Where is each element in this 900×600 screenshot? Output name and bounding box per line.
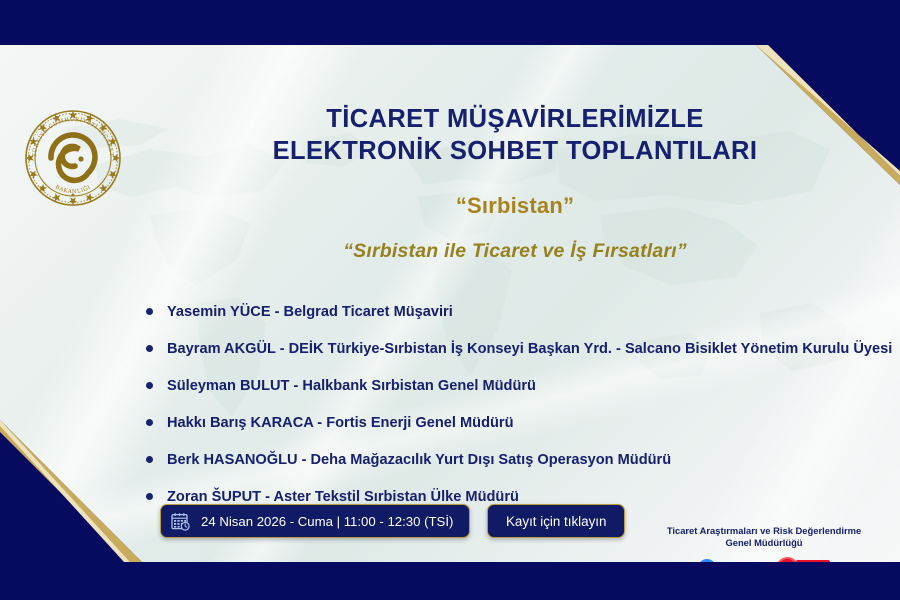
bullet-icon xyxy=(146,308,153,315)
register-button[interactable]: Kayıt için tıklayın xyxy=(487,504,625,538)
organizer-line-2: Genel Müdürlüğü xyxy=(640,537,888,549)
bottom-left-corner-wedge xyxy=(0,420,160,562)
list-item: Berk HASANOĞLU - Deha Mağazacılık Yurt D… xyxy=(146,441,900,478)
speaker-label: Süleyman BULUT - Halkbank Sırbistan Gene… xyxy=(167,378,536,394)
top-navy-bar xyxy=(0,0,900,45)
ministry-emblem-icon: TÜRKİYE CUMHURİYETİ TİCARET BAKANLIĞI xyxy=(18,103,128,213)
list-item: Yasemin YÜCE - Belgrad Ticaret Müşaviri xyxy=(146,293,900,330)
list-item: Süleyman BULUT - Halkbank Sırbistan Gene… xyxy=(146,367,900,404)
poster-content-panel: TÜRKİYE CUMHURİYETİ TİCARET BAKANLIĞI Tİ… xyxy=(0,45,900,562)
webinar-poster: TÜRKİYE CUMHURİYETİ TİCARET BAKANLIĞI Tİ… xyxy=(0,0,900,600)
country-title: “Sırbistan” xyxy=(150,193,880,219)
speaker-label: Zoran ŠUPUT - Aster Tekstil Sırbistan Ül… xyxy=(167,489,519,505)
list-item: Bayram AKGÜL - DEİK Türkiye-Sırbistan İş… xyxy=(146,330,900,367)
bullet-icon xyxy=(146,382,153,389)
calendar-glyph xyxy=(171,512,190,531)
event-date-label: 24 Nisan 2026 - Cuma | 11:00 - 12:30 (TS… xyxy=(201,514,453,529)
calendar-clock-icon xyxy=(171,512,190,531)
bottom-navy-bar xyxy=(0,562,900,600)
organizer-block: Ticaret Araştırmaları ve Risk Değerlendi… xyxy=(640,525,888,562)
bullet-icon xyxy=(146,345,153,352)
speaker-label: Hakkı Barış KARACA - Fortis Enerji Genel… xyxy=(167,415,514,431)
register-button-label: Kayıt için tıklayın xyxy=(506,514,606,529)
top-right-corner-wedge xyxy=(742,45,900,185)
event-date-badge: 24 Nisan 2026 - Cuma | 11:00 - 12:30 (TS… xyxy=(160,504,470,538)
speaker-label: Bayram AKGÜL - DEİK Türkiye-Sırbistan İş… xyxy=(167,341,892,357)
topic-subtitle: “Sırbistan ile Ticaret ve İş Fırsatları” xyxy=(150,240,880,263)
speaker-label: Yasemin YÜCE - Belgrad Ticaret Müşaviri xyxy=(167,304,453,320)
list-item: Hakkı Barış KARACA - Fortis Enerji Genel… xyxy=(146,404,900,441)
speaker-label: Berk HASANOĞLU - Deha Mağazacılık Yurt D… xyxy=(167,452,671,468)
speaker-list: Yasemin YÜCE - Belgrad Ticaret Müşaviri … xyxy=(146,293,900,515)
organizer-line-1: Ticaret Araştırmaları ve Risk Değerlendi… xyxy=(640,525,888,537)
